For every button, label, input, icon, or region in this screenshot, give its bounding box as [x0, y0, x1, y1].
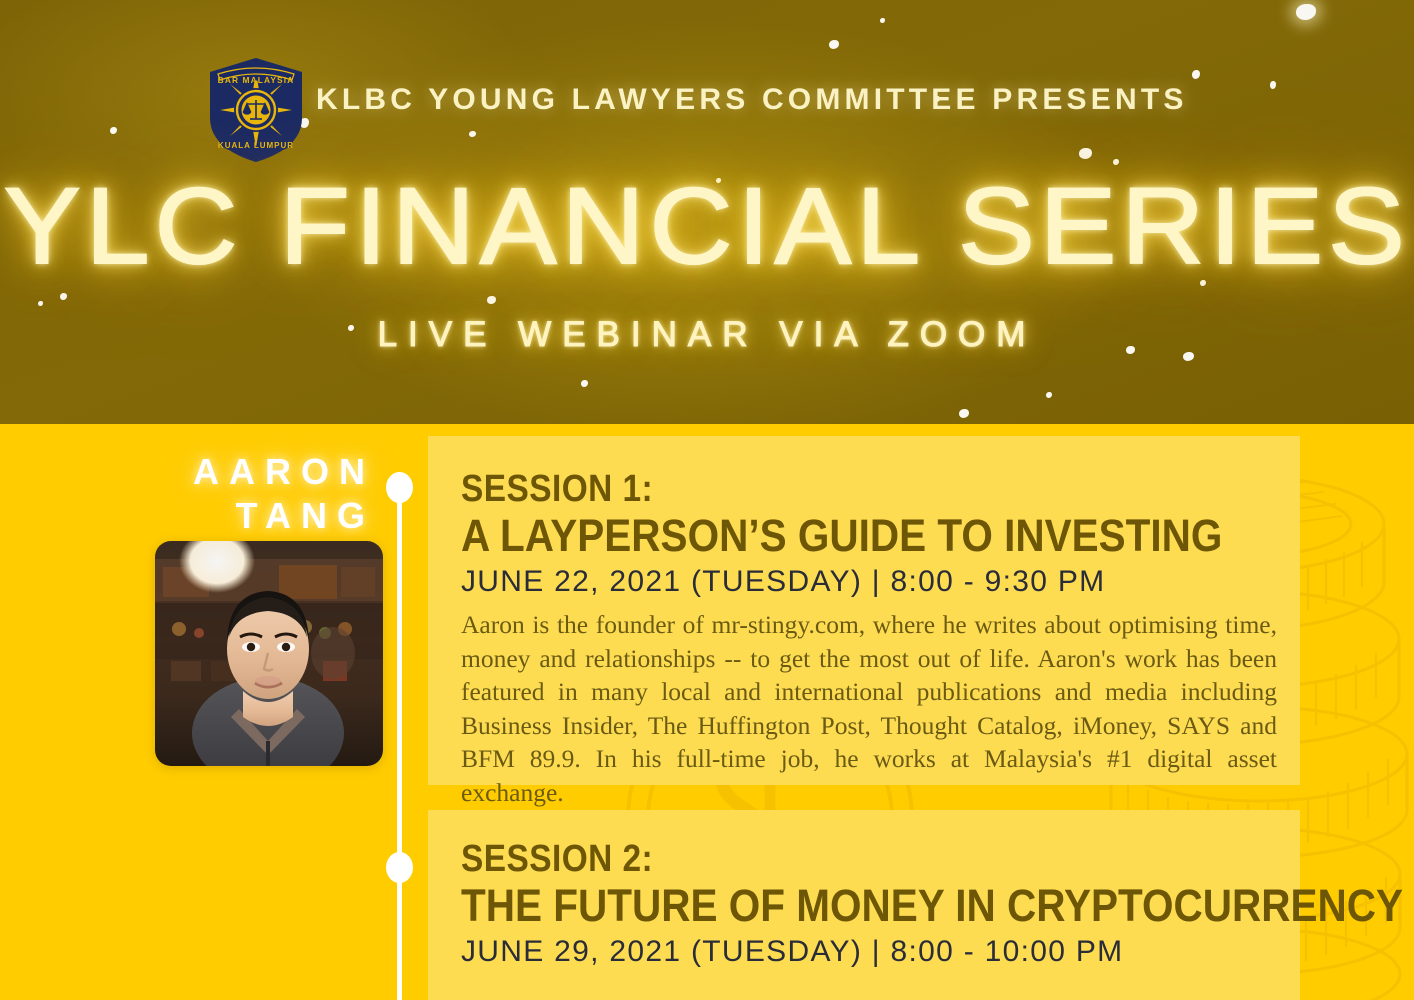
- header-banner: BAR MALAYSIA KUALA LUMPUR KLBC YOUNG LAW…: [0, 0, 1414, 424]
- session-card-1: SESSION 1: A LAYPERSON’S GUIDE TO INVEST…: [428, 436, 1300, 785]
- speaker-first-name: AARON: [193, 451, 375, 492]
- session-2-title: THE FUTURE OF MONEY IN CRYPTOCURRENCY: [461, 880, 1403, 932]
- speaker-photo: [155, 541, 383, 766]
- speaker-name: AARON TANG: [0, 450, 375, 538]
- session-1-label: SESSION 1:: [461, 468, 1205, 510]
- timeline-dot-session-2: [386, 852, 413, 883]
- session-1-heading-block: SESSION 1: A LAYPERSON’S GUIDE TO INVEST…: [461, 468, 1307, 602]
- logo-bottom-text: KUALA LUMPUR: [218, 141, 294, 150]
- bar-malaysia-logo-icon: BAR MALAYSIA KUALA LUMPUR: [204, 56, 308, 164]
- poster-subtitle: LIVE WEBINAR VIA ZOOM: [0, 315, 1414, 355]
- timeline-dot-session-1: [386, 472, 413, 503]
- presenter-kicker: KLBC YOUNG LAWYERS COMMITTEE PRESENTS: [316, 80, 1188, 120]
- logo-top-text: BAR MALAYSIA: [218, 75, 295, 85]
- poster: BAR MALAYSIA KUALA LUMPUR KLBC YOUNG LAW…: [0, 0, 1414, 1000]
- poster-title: YLC FINANCIAL SERIES: [0, 163, 1414, 288]
- timeline-line: [397, 487, 402, 1000]
- session-card-2: SESSION 2: THE FUTURE OF MONEY IN CRYPTO…: [428, 810, 1300, 1000]
- session-2-date: JUNE 29, 2021 (TUESDAY) | 8:00 - 10:00 P…: [461, 932, 1414, 972]
- session-2-label: SESSION 2:: [461, 838, 1382, 880]
- speaker-bio: Aaron is the founder of mr-stingy.com, w…: [461, 608, 1277, 809]
- poster-title-text: YLC FINANCIAL SERIES: [4, 163, 1410, 288]
- session-1-date: JUNE 22, 2021 (TUESDAY) | 8:00 - 9:30 PM: [461, 562, 1307, 602]
- content-area: AARON TANG: [0, 424, 1414, 1000]
- session-1-title: A LAYPERSON’S GUIDE TO INVESTING: [461, 510, 1222, 562]
- speaker-last-name: TANG: [236, 495, 375, 536]
- session-2-heading-block: SESSION 2: THE FUTURE OF MONEY IN CRYPTO…: [461, 838, 1414, 972]
